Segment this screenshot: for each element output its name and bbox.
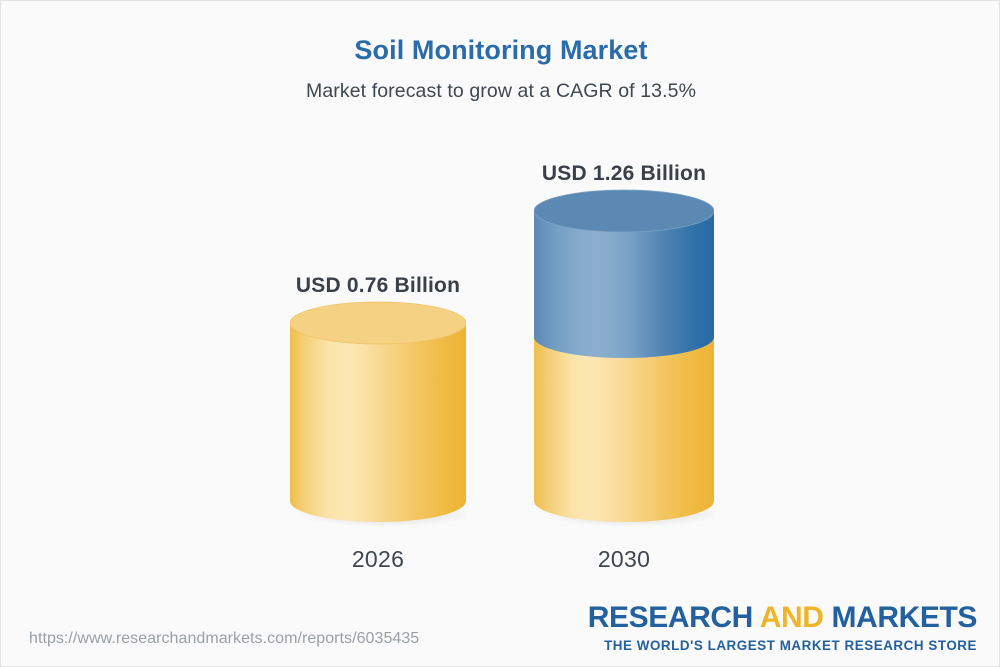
infographic-canvas: Soil Monitoring Market Market forecast t… [0, 0, 1000, 667]
report-url[interactable]: https://www.researchandmarkets.com/repor… [29, 630, 419, 648]
cylinder-2030 [534, 166, 714, 531]
logo-word-markets: MARKETS [831, 601, 977, 634]
research-and-markets-logo[interactable]: RESEARCH AND MARKETS THE WORLD'S LARGEST… [588, 603, 977, 652]
cylinder-2026 [290, 166, 466, 531]
logo-word-research: RESEARCH [588, 601, 753, 634]
logo-wordmark: RESEARCH AND MARKETS [588, 603, 977, 633]
logo-tagline: THE WORLD'S LARGEST MARKET RESEARCH STOR… [588, 633, 977, 652]
bar-2026[interactable]: USD 0.76 Billion [290, 166, 466, 531]
value-label-2026: USD 0.76 Billion [290, 274, 466, 298]
category-label-2030: 2030 [534, 546, 714, 573]
value-label-2030: USD 1.26 Billion [534, 162, 714, 186]
chart-plot-area: USD 0.76 Billion [1, 1, 1000, 667]
logo-word-and: AND [760, 601, 824, 634]
category-label-2026: 2026 [290, 546, 466, 573]
bar-2030[interactable]: USD 1.26 Billion [534, 166, 714, 531]
